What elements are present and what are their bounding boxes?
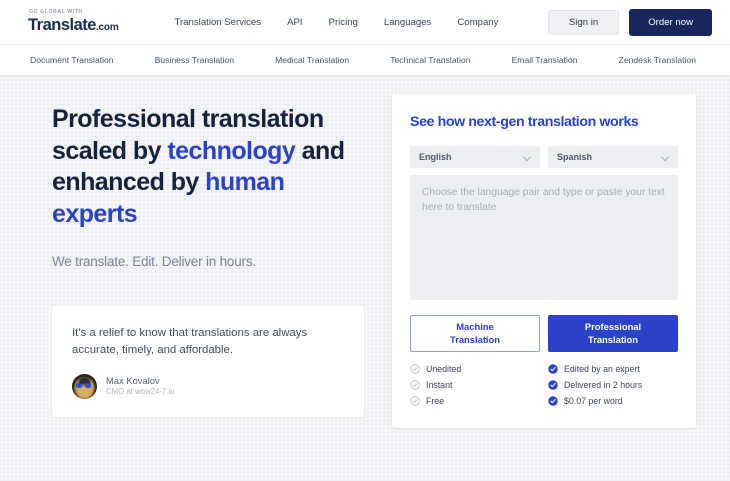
logo[interactable]: GO GLOBAL WITH Translate.com: [28, 10, 119, 34]
machine-feature-label: Free: [426, 396, 444, 406]
machine-feature-label: Instant: [426, 380, 452, 390]
headline-accent-experts: experts: [52, 200, 137, 228]
site-header: GO GLOBAL WITH Translate.com Translation…: [0, 0, 730, 44]
target-language-value: Spanish: [557, 152, 592, 162]
list-item: Instant: [410, 380, 540, 390]
list-item: $0.07 per word: [548, 396, 678, 406]
author-name: Max Kovalov: [106, 375, 174, 387]
professional-translation-label-line2: Translation: [588, 334, 638, 346]
logo-name: Translate: [28, 16, 96, 34]
nav-item-translation-services[interactable]: Translation Services: [175, 17, 262, 28]
testimonial-card: It's a relief to know that translations …: [52, 306, 364, 417]
list-item: Delivered in 2 hours: [548, 380, 678, 390]
chevron-down-icon: [523, 153, 531, 161]
hero-subtitle: We translate. Edit. Deliver in hours.: [52, 254, 392, 269]
subnav-item-document-translation[interactable]: Document Translation: [30, 55, 114, 65]
machine-translation-button[interactable]: Machine Translation: [410, 315, 540, 352]
target-language-select[interactable]: Spanish: [548, 146, 678, 168]
headline-line-1: Professional translation: [52, 105, 324, 133]
subnav-item-zendesk-translation[interactable]: Zendesk Translation: [619, 55, 696, 65]
professional-feature-label: Edited by an expert: [564, 364, 640, 374]
nav-item-api[interactable]: API: [287, 17, 302, 28]
subnav-item-business-translation[interactable]: Business Translation: [155, 55, 234, 65]
chevron-down-icon: [661, 153, 669, 161]
features-comparison: Unedited Instant Free: [410, 364, 678, 406]
check-circle-icon: [410, 396, 420, 406]
translation-mode-buttons: Machine Translation Professional Transla…: [410, 315, 678, 352]
nav-item-languages[interactable]: Languages: [384, 17, 431, 28]
subnav-item-email-translation[interactable]: Email Translation: [512, 55, 578, 65]
avatar: [72, 374, 97, 399]
logo-wordmark: Translate.com: [28, 17, 119, 34]
order-now-button[interactable]: Order now: [629, 9, 712, 36]
source-language-select[interactable]: English: [410, 146, 540, 168]
logo-kicker: GO GLOBAL WITH: [29, 10, 119, 15]
machine-feature-label: Unedited: [426, 364, 461, 374]
hero-left-column: Professional translationscaled by techno…: [52, 104, 392, 481]
professional-feature-label: Delivered in 2 hours: [564, 380, 642, 390]
professional-features-list: Edited by an expert Delivered in 2 hours…: [548, 364, 678, 406]
check-circle-icon: [410, 380, 420, 390]
logo-tld: .com: [96, 22, 119, 33]
professional-translation-button[interactable]: Professional Translation: [548, 315, 678, 352]
machine-features-list: Unedited Instant Free: [410, 364, 540, 406]
translation-input-placeholder: Choose the language pair and type or pas…: [422, 186, 666, 216]
nav-item-company[interactable]: Company: [457, 17, 498, 28]
professional-feature-label: $0.07 per word: [564, 396, 623, 406]
page-title: Professional translationscaled by techno…: [52, 104, 392, 230]
nav-item-pricing[interactable]: Pricing: [329, 17, 358, 28]
headline-accent-technology: technology: [167, 137, 295, 165]
header-actions: Sign in Order now: [548, 9, 712, 36]
check-circle-filled-icon: [548, 364, 558, 374]
secondary-nav: Document Translation Business Translatio…: [0, 44, 730, 76]
widget-title: See how next-gen translation works: [410, 114, 678, 130]
hero-section: Professional translationscaled by techno…: [0, 76, 730, 481]
list-item: Unedited: [410, 364, 540, 374]
machine-translation-label-line2: Translation: [450, 334, 500, 346]
check-circle-icon: [410, 364, 420, 374]
list-item: Free: [410, 396, 540, 406]
panel-bottom-spacer: [410, 406, 678, 408]
sign-in-button[interactable]: Sign in: [548, 10, 619, 35]
testimonial-quote: It's a relief to know that translations …: [72, 325, 342, 359]
subnav-item-technical-translation[interactable]: Technical Translation: [390, 55, 470, 65]
headline-line-3a: enhanced by: [52, 168, 205, 196]
translation-widget: See how next-gen translation works Engli…: [392, 94, 696, 428]
check-circle-filled-icon: [548, 380, 558, 390]
headline-line-2c: and: [295, 137, 344, 165]
author-meta: Max Kovalov CMO at wow24-7.io: [106, 375, 174, 398]
list-item: Edited by an expert: [548, 364, 678, 374]
machine-translation-label-line1: Machine: [456, 321, 494, 333]
author-role: CMO at wow24-7.io: [106, 387, 174, 397]
translation-input[interactable]: Choose the language pair and type or pas…: [410, 175, 678, 300]
primary-nav: Translation Services API Pricing Languag…: [175, 17, 499, 28]
professional-translation-label-line1: Professional: [585, 321, 641, 333]
headline-line-2a: scaled by: [52, 137, 167, 165]
testimonial-author: Max Kovalov CMO at wow24-7.io: [72, 374, 342, 399]
subnav-item-medical-translation[interactable]: Medical Translation: [275, 55, 349, 65]
source-language-value: English: [419, 152, 452, 162]
check-circle-filled-icon: [548, 396, 558, 406]
language-pair-row: English Spanish: [410, 146, 678, 168]
headline-accent-human: human: [205, 168, 284, 196]
